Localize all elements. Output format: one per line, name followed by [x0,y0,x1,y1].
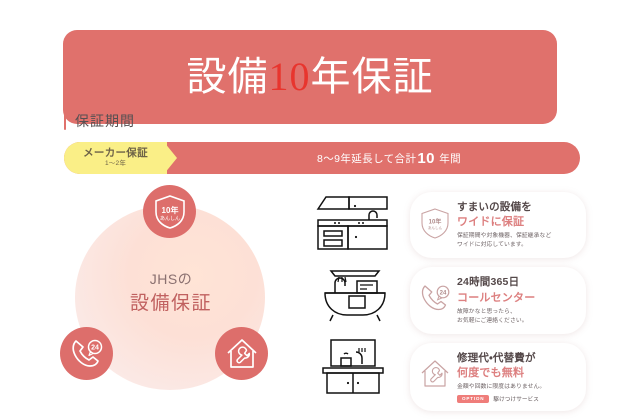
phone-badge-bubble-text: 24 [91,344,99,351]
phone-outline-icon: 24 [419,283,451,313]
page-title: 設備10年保証 [187,57,434,97]
house-wrench-badge [215,327,268,380]
shield-outline-icon: 10年 あんしん [420,207,450,240]
shield-badge-line1: 10年 [161,205,178,215]
diagram-center-line2: 設備保証 [85,292,257,316]
card-body: 修理代・代替費が 何度でも無料 金額や回数に限度はありません。 OPTION 駆… [457,351,576,403]
page-title-suffix: 年保証 [311,54,434,99]
card-description-line1: 保証期間や対象機器、保証継承など [457,232,576,241]
timeline-extended-number: 10 [417,150,435,167]
header-banner: 設備10年保証 [63,30,557,124]
card-description-line2: お気軽にご連絡ください。 [457,317,576,326]
warranty-timeline: 8〜9年延長して合計10 年間 メーカー保証 1〜2年 [64,142,580,174]
card-shield-line1: 10年 [429,217,442,225]
feature-card-free-repair[interactable]: 修理代・代替費が 何度でも無料 金額や回数に限度はありません。 OPTION 駆… [410,343,586,411]
section-label-text: 保証期間 [75,114,135,128]
timeline-extended-label: 8〜9年延長して合計10 年間 [219,142,559,174]
card-description: 保証期間や対象機器、保証継承など ワイドに対応しています。 [457,232,576,250]
diagram-center-text: JHSの 設備保証 [85,271,257,315]
shield-badge-line2: あんしん [159,216,179,222]
card-title-line1: すまいの設備を [457,201,576,214]
feature-cards: 10年 あんしん すまいの設備を ワイドに保証 保証期間や対象機器、保証継承など… [410,192,586,420]
washstand-illustration [300,333,410,399]
house-wrench-icon [224,337,260,371]
card-shield-line2: あんしん [428,225,443,230]
card-title-line2: コールセンター [457,291,576,305]
section-accent-bar [64,113,66,130]
card-title-line1: 24時間365日 [457,276,576,289]
feature-card-wide-warranty[interactable]: 10年 あんしん すまいの設備を ワイドに保証 保証期間や対象機器、保証継承など… [410,192,586,258]
phone-icon: 24 [69,337,105,371]
card-description: 金額や回数に限度はありません。 [457,383,576,392]
option-row: OPTION 駆けつけサービス [457,395,576,403]
page-title-prefix: 設備 [187,54,269,99]
timeline-maker-segment: メーカー保証 1〜2年 [64,142,167,174]
shield-badge: 10年 あんしん [143,185,196,238]
timeline-maker-sublabel: 1〜2年 [105,161,126,168]
card-description-line2: ワイドに対応しています。 [457,241,576,250]
section-label: 保証期間 [64,110,135,132]
feature-card-call-center[interactable]: 24 24時間365日 コールセンター 故障かなと思ったら、 お気軽にご連絡くだ… [410,267,586,333]
diagram-center-line1: JHSの [85,271,257,289]
card-title-line2: ワイドに保証 [457,215,576,229]
kitchen-illustration [300,190,410,256]
house-wrench-outline-icon [419,359,451,389]
timeline-maker-label: メーカー保証 [83,148,148,159]
card-description: 故障かなと思ったら、 お気軽にご連絡ください。 [457,308,576,326]
warranty-diagram: JHSの 設備保証 10年 あんしん 24 [55,185,290,400]
card-description-line1: 故障かなと思ったら、 [457,308,576,317]
option-text: 駆けつけサービス [493,395,539,403]
option-badge: OPTION [457,395,489,403]
kitchen-icon [309,193,401,253]
illustration-column [300,190,410,405]
card-icon-phone: 24 [418,275,452,317]
card-icon-house-wrench [418,351,452,393]
phone-badge: 24 [60,327,113,380]
bathroom-illustration [300,260,410,326]
washstand-icon [315,336,395,396]
timeline-extended-suffix: 年間 [439,151,461,166]
card-title-line1: 修理代・代替費が [457,352,576,365]
card-body: 24時間365日 コールセンター 故障かなと思ったら、 お気軽にご連絡ください。 [457,275,576,325]
card-icon-shield: 10年 あんしん [418,200,452,242]
page-title-accent-number: 10 [269,54,311,99]
card-body: すまいの設備を ワイドに保証 保証期間や対象機器、保証継承など ワイドに対応して… [457,200,576,250]
card-description-line1: 金額や回数に限度はありません。 [457,383,576,392]
timeline-extended-prefix: 8〜9年延長して合計 [317,151,416,166]
card-phone-bubble-text: 24 [440,291,447,297]
bathtub-icon [313,263,397,323]
shield-icon: 10年 あんしん [153,194,187,230]
card-title-line2: 何度でも無料 [457,366,576,380]
